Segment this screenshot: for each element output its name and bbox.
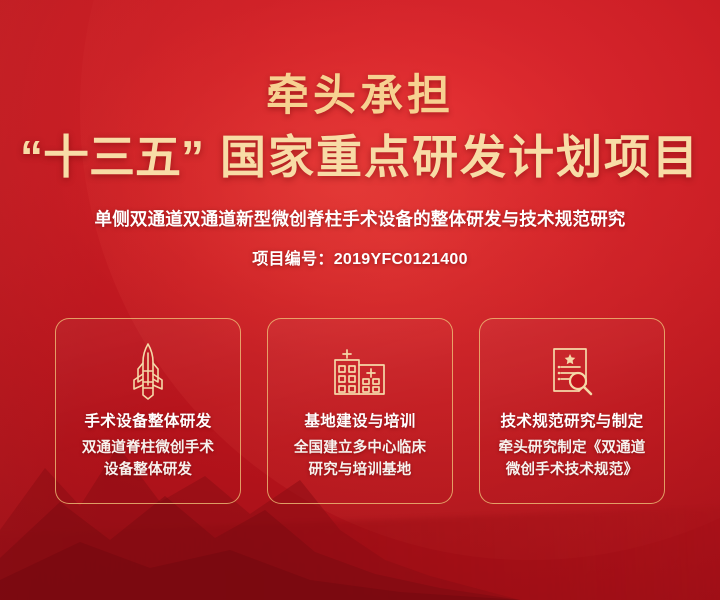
card-base-construction-training[interactable]: 基地建设与培训 全国建立多中心临床 研究与培训基地 [267, 318, 453, 504]
card-description-line2: 研究与培训基地 [272, 460, 448, 482]
card-technical-standard[interactable]: 技术规范研究与制定 牵头研究制定《双通道 微创手术技术规范》 [479, 318, 665, 504]
poster-root: 牵头承担 “十三五”国家重点研发计划项目 单侧双通道双通道新型微创脊柱手术设备的… [0, 0, 720, 600]
background-band [0, 503, 720, 600]
card-description-line1: 全国建立多中心临床 [272, 438, 448, 460]
certificate-search-icon [544, 339, 600, 405]
card-title: 基地建设与培训 [304, 409, 415, 431]
card-description: 全国建立多中心临床 研究与培训基地 [272, 438, 448, 482]
header-block: 牵头承担 “十三五”国家重点研发计划项目 单侧双通道双通道新型微创脊柱手术设备的… [0, 0, 720, 269]
card-surgical-equipment[interactable]: 手术设备整体研发 双通道脊柱微创手术 设备整体研发 [55, 318, 241, 504]
card-description-line1: 牵头研究制定《双通道 [484, 438, 660, 460]
card-title: 技术规范研究与制定 [500, 409, 643, 431]
card-description-line1: 双通道脊柱微创手术 [60, 438, 236, 460]
card-description-line2: 微创手术技术规范》 [484, 460, 660, 482]
project-subtitle: 单侧双通道双通道新型微创脊柱手术设备的整体研发与技术规范研究 [0, 206, 720, 231]
card-list: 手术设备整体研发 双通道脊柱微创手术 设备整体研发 [55, 318, 665, 504]
page-title-line1: 牵头承担 [0, 74, 720, 119]
card-description: 牵头研究制定《双通道 微创手术技术规范》 [484, 438, 660, 482]
card-title: 手术设备整体研发 [84, 409, 211, 431]
plan-name-label: 国家重点研发计划项目 [220, 131, 700, 183]
project-number: 项目编号：2019YFC0121400 [0, 245, 720, 269]
plan-period-label: “十三五” [20, 131, 204, 183]
card-description: 双通道脊柱微创手术 设备整体研发 [60, 438, 236, 482]
card-description-line2: 设备整体研发 [60, 460, 236, 482]
page-title-line2: “十三五”国家重点研发计划项目 [0, 131, 720, 184]
hospital-icon [331, 339, 389, 405]
rocket-icon [126, 339, 170, 405]
